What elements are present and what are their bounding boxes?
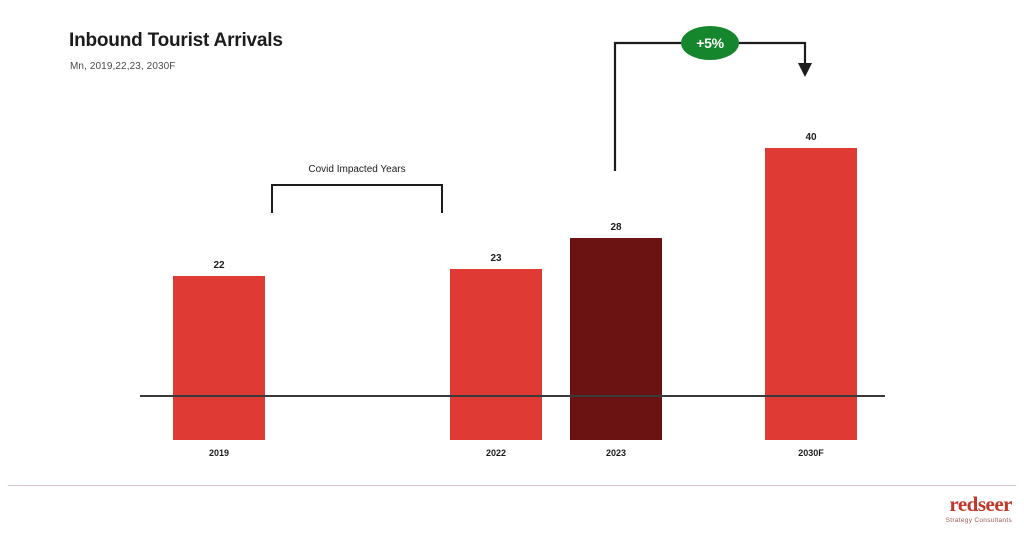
covid-bracket-label: Covid Impacted Years [271, 164, 443, 175]
footer-divider [8, 485, 1016, 486]
bar-rect-2023[interactable] [570, 238, 662, 440]
growth-rate-badge: +5% [681, 26, 739, 60]
bar-category-2022: 2022 [450, 448, 542, 458]
bar-chart-plot-area: 22 2019 23 2022 28 2023 40 2030F [0, 0, 1024, 440]
redseer-logo: redseer Strategy Consultants [946, 494, 1012, 524]
x-axis-baseline [140, 395, 885, 397]
logo-tagline: Strategy Consultants [946, 517, 1012, 524]
bar-group-2022[interactable]: 23 2022 [450, 45, 542, 440]
growth-rate-badge-label: +5% [696, 35, 724, 51]
bar-rect-2022[interactable] [450, 269, 542, 440]
bar-value-2023: 28 [570, 222, 662, 233]
bar-group-2030f[interactable]: 40 2030F [765, 45, 857, 440]
bar-category-2019: 2019 [173, 448, 265, 458]
covid-bracket-shape [271, 184, 443, 213]
bar-group-2023[interactable]: 28 2023 [570, 45, 662, 440]
bar-group-2019[interactable]: 22 2019 [173, 45, 265, 440]
bar-value-2030f: 40 [765, 132, 857, 143]
bar-value-2019: 22 [173, 260, 265, 271]
bar-category-2030f: 2030F [765, 448, 857, 458]
bar-category-2023: 2023 [570, 448, 662, 458]
slide-canvas: Inbound Tourist Arrivals Mn, 2019,22,23,… [0, 0, 1024, 540]
bar-rect-2019[interactable] [173, 276, 265, 440]
logo-wordmark: redseer [946, 494, 1012, 515]
bar-value-2022: 23 [450, 253, 542, 264]
